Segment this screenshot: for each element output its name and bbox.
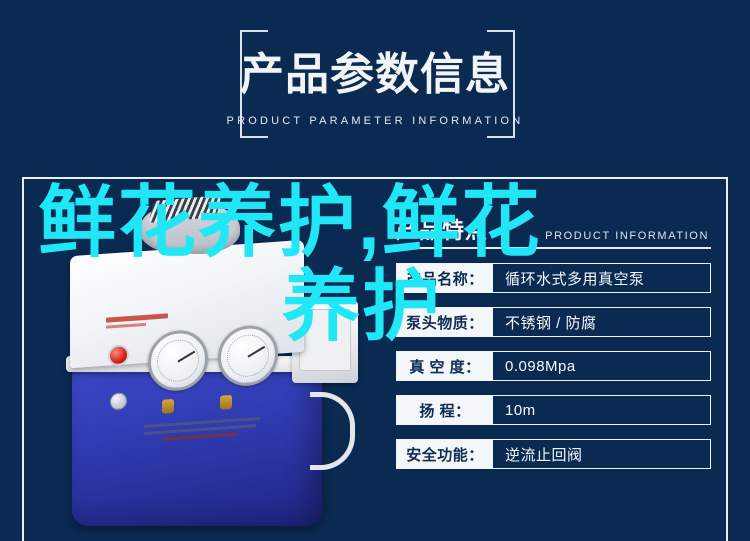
pump-hose-icon: [310, 392, 355, 470]
power-lamp-icon: [108, 344, 129, 366]
spec-row: 泵头物质： 不锈钢 / 防腐: [396, 307, 711, 337]
spec-value: 0.098Mpa: [493, 352, 710, 380]
inlet-nozzle-icon: [220, 395, 232, 410]
spec-row: 安全功能： 逆流止回阀: [396, 439, 711, 469]
outlet-nozzle-icon: [162, 399, 174, 414]
spec-value: 不锈钢 / 防腐: [493, 308, 710, 336]
spec-heading-en: PRODUCT INFORMATION: [545, 230, 709, 242]
spec-key: 泵头物质：: [397, 308, 493, 336]
spec-key: 安全功能：: [397, 440, 493, 468]
spec-row: 真 空 度： 0.098Mpa: [396, 351, 711, 381]
spec-value: 循环水式多用真空泵: [493, 264, 710, 292]
pump-brand-submark: [106, 323, 146, 329]
spec-panel-header: 产品特点 PRODUCT INFORMATION: [396, 213, 711, 249]
spec-key: 扬 程：: [397, 396, 493, 424]
product-parameter-poster: 产品参数信息 PRODUCT PARAMETER INFORMATION: [0, 0, 750, 541]
spec-value: 10m: [493, 396, 710, 424]
pump-side-tray-inner: [299, 309, 351, 371]
spec-key: 真 空 度：: [397, 352, 493, 380]
page-title: 产品参数信息: [0, 49, 750, 101]
banner-header: 产品参数信息 PRODUCT PARAMETER INFORMATION: [0, 0, 750, 168]
spec-key: 产品名称：: [397, 264, 493, 292]
product-photo: [52, 196, 362, 541]
spec-row: 产品名称： 循环水式多用真空泵: [396, 263, 711, 293]
page-subtitle: PRODUCT PARAMETER INFORMATION: [0, 115, 750, 127]
spec-heading-cn: 产品特点: [396, 213, 488, 245]
spec-row: 扬 程： 10m: [396, 395, 711, 425]
pump-brand-mark: [106, 313, 168, 322]
pump-control-panel: [70, 240, 304, 368]
spec-value: 逆流止回阀: [493, 440, 710, 468]
spec-panel: 产品特点 PRODUCT INFORMATION 产品名称： 循环水式多用真空泵…: [396, 213, 711, 469]
pump-water-tank: [72, 366, 322, 526]
